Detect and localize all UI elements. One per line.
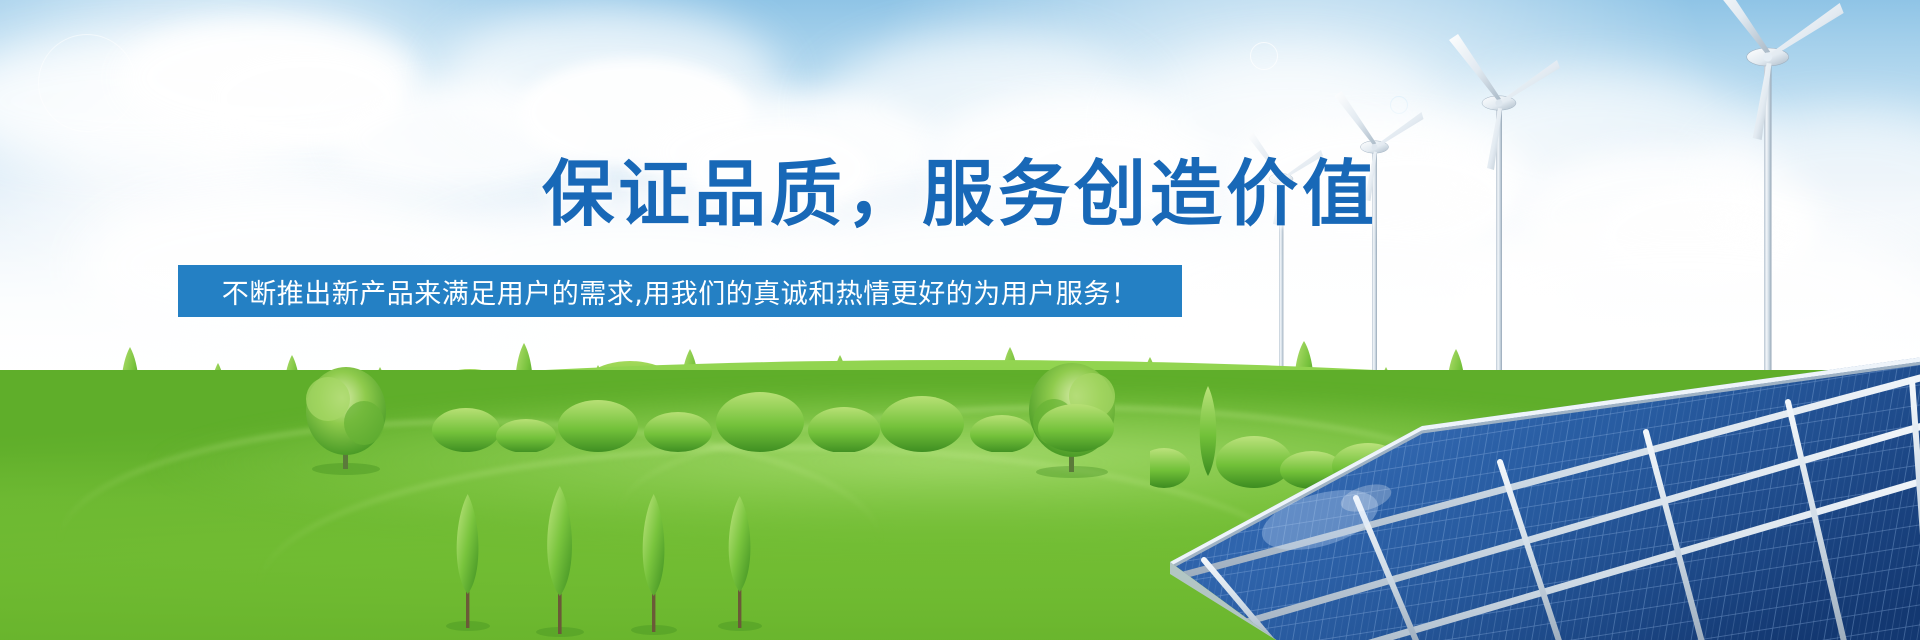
- lens-flare-ring-2: [1250, 42, 1278, 70]
- panel-surface: [1170, 230, 1920, 640]
- subtitle-bar: 不断推出新产品来满足用户的需求,用我们的真诚和热情更好的为用户服务！: [178, 265, 1182, 317]
- lens-flare-ring-1: [38, 34, 136, 132]
- lens-flare-ring-3: [1390, 96, 1408, 114]
- hero-banner: 保证品质，服务创造价值 不断推出新产品来满足用户的需求,用我们的真诚和热情更好的…: [0, 0, 1920, 640]
- solar-panel-array: [1170, 230, 1920, 640]
- foreground-tree-left: [288, 365, 408, 475]
- page-title: 保证品质，服务创造价值: [0, 158, 1920, 230]
- subtitle-text: 不断推出新产品来满足用户的需求,用我们的真诚和热情更好的为用户服务！: [222, 272, 1139, 311]
- sapling-group: [430, 450, 790, 640]
- mid-bush-row: [430, 362, 1130, 452]
